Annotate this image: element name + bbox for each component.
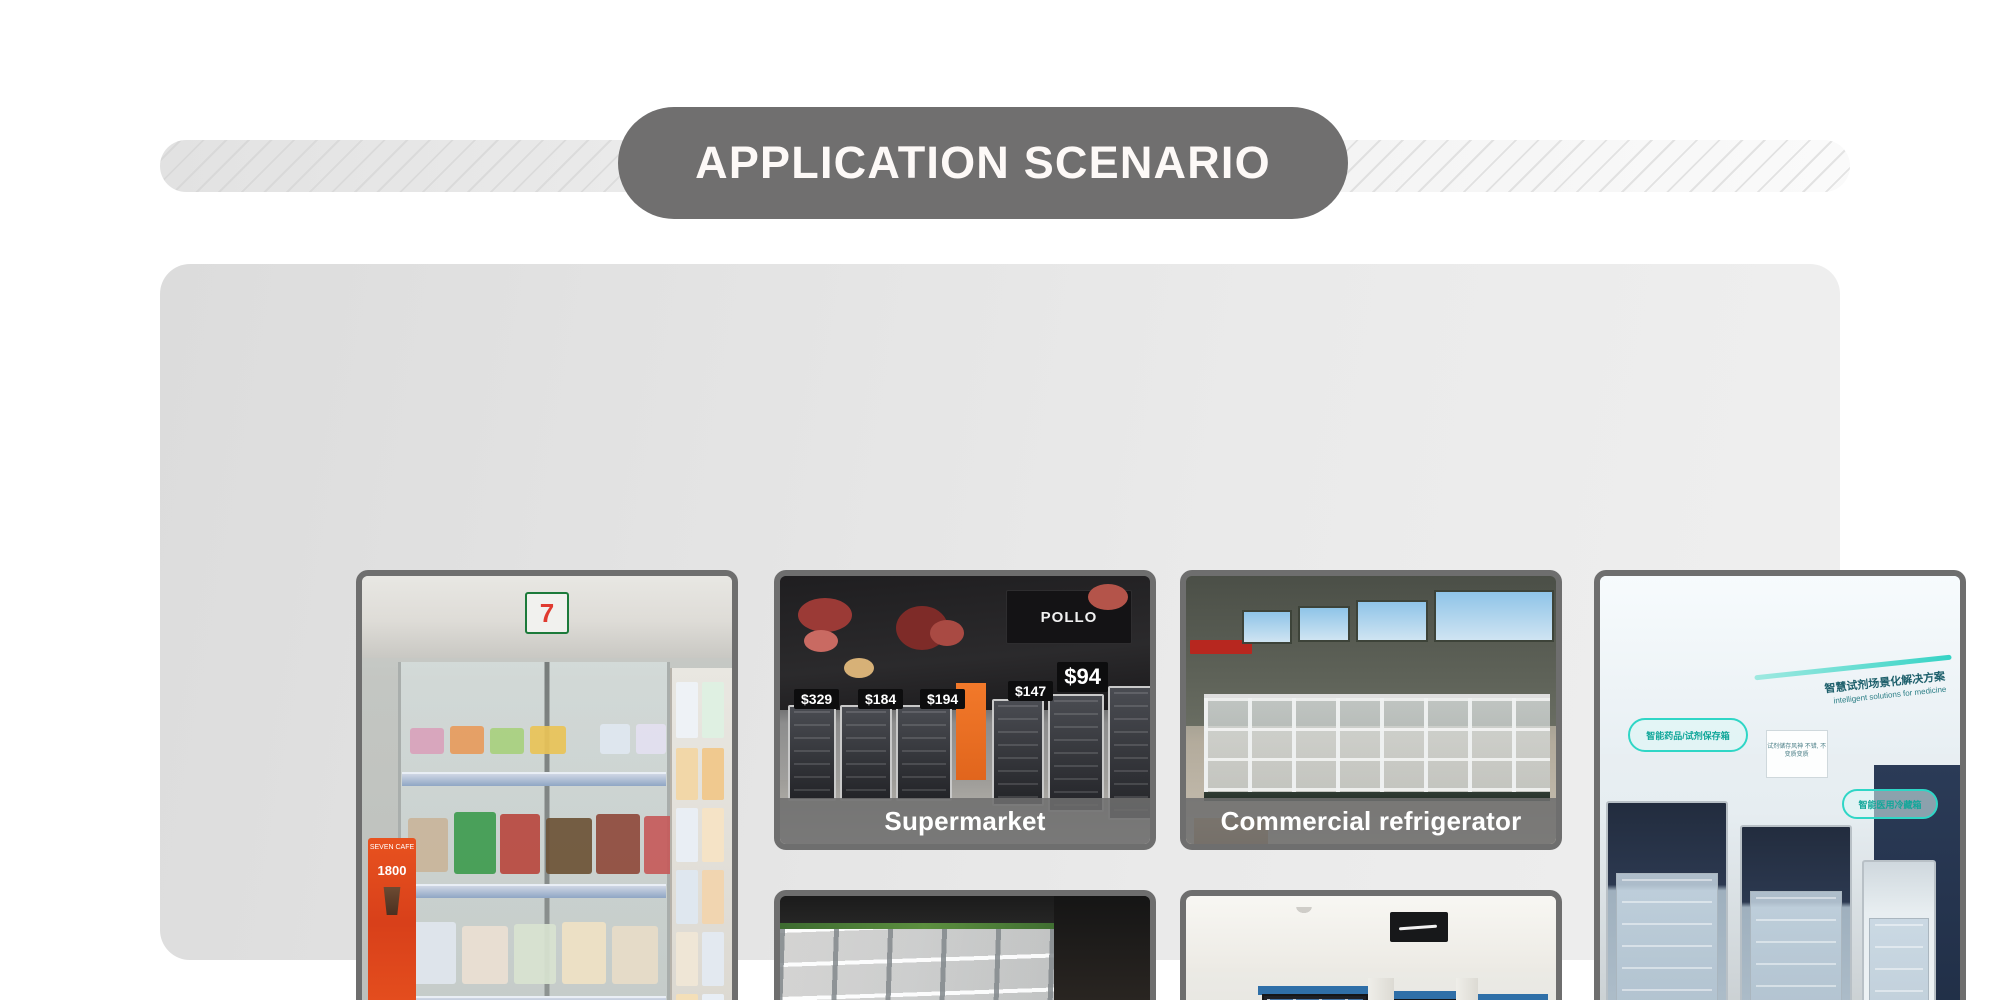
- pollo-sign-label: POLLO: [1041, 609, 1098, 626]
- scenario-card-commercial-medical-care[interactable]: 智慧试剂场景化解决方案 intelligent solutions for me…: [1594, 570, 1966, 1000]
- scenario-card-convenience-store[interactable]: 7: [356, 570, 738, 1000]
- cabinet-glass-door: [1750, 891, 1843, 1000]
- price-tag: $184: [858, 689, 903, 709]
- cabinet-glass-door: [1869, 918, 1929, 1000]
- photo-commercial-cold-storage: ICE: [1186, 896, 1556, 1000]
- shelf-products: [404, 720, 664, 772]
- logo-seven-glyph: 7: [540, 600, 554, 626]
- scenario-gallery-panel: 7: [160, 264, 1840, 960]
- shelf-products: [404, 802, 664, 884]
- structural-pillar: [1368, 978, 1394, 1000]
- seven-eleven-logo-icon: 7: [525, 592, 569, 634]
- price-tag: $94: [1057, 662, 1108, 692]
- scenario-card-commercial-refrigerator[interactable]: Commercial refrigerator: [1180, 570, 1562, 850]
- teal-badge-left: 智能药品/试剂保存箱: [1628, 718, 1748, 752]
- cooler-case: [1048, 694, 1104, 812]
- application-scenario-page: APPLICATION SCENARIO 7: [0, 0, 2000, 1000]
- medical-cabinet-dark: [1740, 825, 1852, 1000]
- warehouse-window: [1242, 610, 1292, 644]
- scenario-card-supermarket[interactable]: POLLO $329 $184 $194 $147 $94 Supermarke…: [774, 570, 1156, 850]
- price-tag: $147: [1008, 681, 1053, 701]
- price-tag: $329: [794, 689, 839, 709]
- wall-display-screen: [1390, 912, 1448, 942]
- cabinet-shelf: [402, 884, 666, 898]
- page-title: APPLICATION SCENARIO: [695, 137, 1271, 189]
- photo-commercial-medical-care: 智慧试剂场景化解决方案 intelligent solutions for me…: [1600, 576, 1960, 1000]
- ceiling-fan-icon: [1286, 907, 1322, 921]
- freezer-door-row: [780, 929, 1054, 1000]
- cabinet-shelf: [402, 772, 666, 786]
- coffee-cup-icon: [381, 887, 403, 915]
- shelf-products: [404, 912, 664, 996]
- warehouse-window: [1356, 600, 1428, 642]
- cabinet-shelf: [402, 996, 666, 1000]
- cooler-case: [840, 705, 892, 801]
- page-title-pill: APPLICATION SCENARIO: [618, 107, 1348, 219]
- card-caption-commercial-refrigerator: Commercial refrigerator: [1186, 798, 1556, 844]
- photo-fan-cooling-cabinet: [780, 896, 1150, 1000]
- warehouse-window: [1298, 606, 1350, 642]
- cold-storage-doors: [1262, 994, 1368, 1000]
- scenario-card-fan-cooling-cabinet[interactable]: Fan-cooling cabinet: [774, 890, 1156, 1000]
- scenario-card-commercial-cold-storage[interactable]: ICE Commercial cold storage: [1180, 890, 1562, 1000]
- teal-badge-right: 智能医用冷藏箱: [1842, 789, 1938, 819]
- medical-cabinet-dark: [1606, 801, 1728, 1000]
- refrigerator-door-row: [1204, 694, 1550, 801]
- promo-poster: SEVEN CAFE 1800: [368, 838, 416, 1000]
- structural-pillar: [1456, 978, 1478, 1000]
- warehouse-window: [1434, 590, 1554, 642]
- medical-fridge-white: [1862, 860, 1936, 1000]
- cabinet-glass-door: [1616, 873, 1718, 1000]
- background-store-area: [1054, 896, 1150, 1000]
- white-info-card: 试剂储存风神 不错, 不变质变质: [1766, 730, 1828, 778]
- price-tag: $194: [920, 689, 965, 709]
- photo-convenience-store: 7: [362, 576, 732, 1000]
- side-shelving: [670, 668, 732, 1000]
- cooler-header-band: [1478, 994, 1548, 1000]
- card-caption-supermarket: Supermarket: [780, 798, 1150, 844]
- store-ceiling: [1186, 896, 1556, 972]
- cooler-case: [788, 705, 836, 801]
- cooler-case: [896, 705, 952, 801]
- cooler-case: [992, 699, 1044, 806]
